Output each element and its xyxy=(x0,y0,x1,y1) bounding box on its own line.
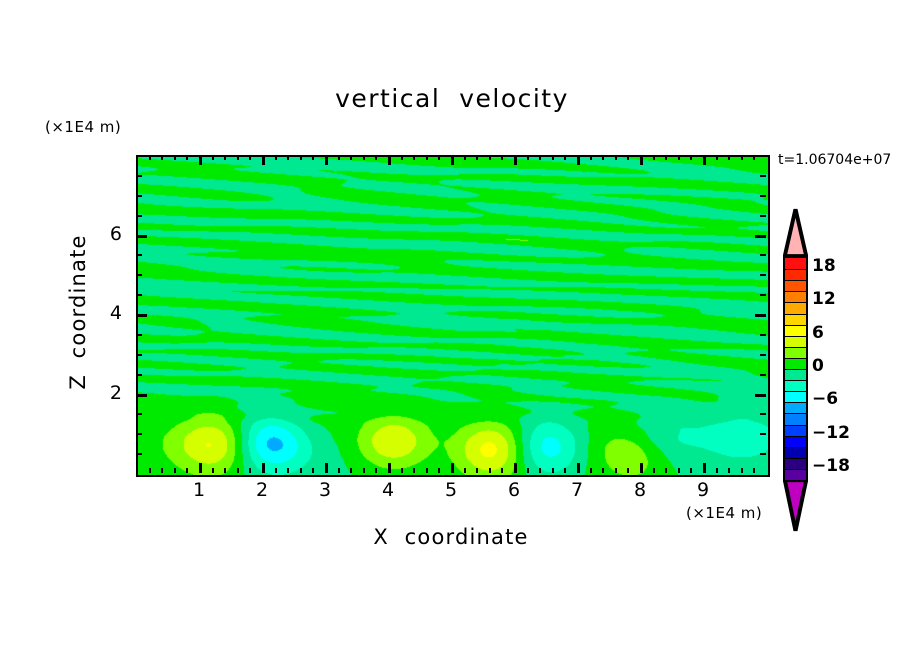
x-major-tick xyxy=(451,463,454,473)
x-minor-tick xyxy=(249,468,251,473)
x-tick-label: 1 xyxy=(179,479,219,501)
x-minor-tick-top xyxy=(338,155,340,160)
colorbar-band-divider xyxy=(785,413,806,414)
x-minor-tick xyxy=(690,468,692,473)
x-major-tick-top xyxy=(514,155,517,165)
colorbar-cap-bottom-icon xyxy=(783,480,808,532)
x-minor-tick-top xyxy=(438,155,440,160)
colorbar-band xyxy=(785,258,806,270)
y-minor-tick xyxy=(136,254,142,256)
colorbar-band xyxy=(785,291,806,303)
y-major-tick xyxy=(136,235,147,238)
x-minor-tick-top xyxy=(426,155,428,160)
y-tick-label: 4 xyxy=(96,302,122,324)
colorbar-band xyxy=(785,325,806,337)
y-minor-tick xyxy=(136,294,142,296)
x-minor-tick-top xyxy=(212,155,214,160)
x-minor-tick xyxy=(501,468,503,473)
x-minor-tick-top xyxy=(602,155,604,160)
x-minor-tick-top xyxy=(728,155,730,160)
x-minor-tick xyxy=(678,468,680,473)
colorbar-band-divider xyxy=(785,436,806,437)
x-major-tick-top xyxy=(388,155,391,165)
x-minor-tick xyxy=(653,468,655,473)
colorbar-band xyxy=(785,336,806,348)
y-axis-title: Z coordinate xyxy=(66,212,90,412)
x-minor-tick-top xyxy=(401,155,403,160)
colorbar-band-divider xyxy=(785,314,806,315)
x-minor-tick-top xyxy=(753,155,755,160)
y-minor-tick-right xyxy=(760,413,766,415)
x-minor-tick xyxy=(312,468,314,473)
x-minor-tick-top xyxy=(375,155,377,160)
x-minor-tick xyxy=(237,468,239,473)
contour-plot-figure: vertical velocity (×1E4 m) (×1E4 m) t=1.… xyxy=(0,0,904,654)
x-minor-tick-top xyxy=(741,155,743,160)
y-axis-unit-label: (×1E4 m) xyxy=(45,118,121,136)
x-minor-tick-top xyxy=(690,155,692,160)
x-minor-tick xyxy=(489,468,491,473)
y-minor-tick-right xyxy=(760,294,766,296)
colorbar-band-divider xyxy=(785,325,806,326)
colorbar-tick-label: −12 xyxy=(812,423,850,443)
x-minor-tick xyxy=(464,468,466,473)
x-minor-tick xyxy=(275,468,277,473)
x-tick-label: 6 xyxy=(494,479,534,501)
x-tick-label: 7 xyxy=(557,479,597,501)
y-major-tick xyxy=(136,314,147,317)
x-minor-tick-top xyxy=(275,155,277,160)
x-minor-tick xyxy=(375,468,377,473)
colorbar-band xyxy=(785,380,806,392)
colorbar-band xyxy=(785,347,806,359)
y-minor-tick-right xyxy=(760,195,766,197)
colorbar-band-divider xyxy=(785,347,806,348)
colorbar-tick-label: 12 xyxy=(812,289,836,309)
x-minor-tick-top xyxy=(489,155,491,160)
colorbar-band xyxy=(785,413,806,425)
y-minor-tick xyxy=(136,413,142,415)
colorbar-tick-label: −6 xyxy=(812,389,838,409)
x-major-tick xyxy=(388,463,391,473)
y-tick-label: 6 xyxy=(96,223,122,245)
y-minor-tick-right xyxy=(760,453,766,455)
colorbar-band xyxy=(785,302,806,314)
x-major-tick xyxy=(514,463,517,473)
x-minor-tick-top xyxy=(501,155,503,160)
x-minor-tick xyxy=(741,468,743,473)
colorbar-band-divider xyxy=(785,302,806,303)
colorbar-band xyxy=(785,447,806,459)
colorbar-band-divider xyxy=(785,458,806,459)
x-minor-tick xyxy=(363,468,365,473)
x-tick-label: 8 xyxy=(620,479,660,501)
y-major-tick-right xyxy=(755,314,766,317)
y-minor-tick xyxy=(136,334,142,336)
x-minor-tick xyxy=(426,468,428,473)
x-minor-tick xyxy=(602,468,604,473)
x-minor-tick-top xyxy=(539,155,541,160)
x-minor-tick xyxy=(224,468,226,473)
colorbar-band xyxy=(785,358,806,370)
colorbar-band-divider xyxy=(785,402,806,403)
colorbar-band xyxy=(785,369,806,381)
x-minor-tick xyxy=(438,468,440,473)
colorbar-tick-label: −18 xyxy=(812,456,850,476)
x-minor-tick-top xyxy=(615,155,617,160)
x-minor-tick-top xyxy=(224,155,226,160)
y-minor-tick xyxy=(136,195,142,197)
y-minor-tick xyxy=(136,175,142,177)
x-minor-tick-top xyxy=(249,155,251,160)
colorbar-tick-label: 0 xyxy=(812,356,824,376)
x-minor-tick-top xyxy=(476,155,478,160)
x-minor-tick xyxy=(716,468,718,473)
x-minor-tick-top xyxy=(464,155,466,160)
x-minor-tick-top xyxy=(716,155,718,160)
x-axis-title: X coordinate xyxy=(136,525,766,549)
x-major-tick xyxy=(577,463,580,473)
x-major-tick-top xyxy=(325,155,328,165)
colorbar-band xyxy=(785,314,806,326)
colorbar-band xyxy=(785,436,806,448)
x-tick-label: 9 xyxy=(683,479,723,501)
x-minor-tick-top xyxy=(287,155,289,160)
y-minor-tick-right xyxy=(760,274,766,276)
x-major-tick xyxy=(703,463,706,473)
colorbar-band-divider xyxy=(785,269,806,270)
x-tick-label: 4 xyxy=(368,479,408,501)
plot-area xyxy=(136,155,770,477)
x-major-tick xyxy=(199,463,202,473)
timestamp-label: t=1.06704e+07 xyxy=(778,152,891,168)
colorbar-band-divider xyxy=(785,291,806,292)
x-minor-tick xyxy=(527,468,529,473)
x-minor-tick xyxy=(615,468,617,473)
x-major-tick-top xyxy=(577,155,580,165)
x-tick-label: 3 xyxy=(305,479,345,501)
x-major-tick-top xyxy=(451,155,454,165)
x-minor-tick xyxy=(161,468,163,473)
x-minor-tick xyxy=(287,468,289,473)
x-minor-tick xyxy=(212,468,214,473)
y-minor-tick-right xyxy=(760,374,766,376)
colorbar-band-divider xyxy=(785,425,806,426)
y-minor-tick-right xyxy=(760,215,766,217)
x-major-tick-top xyxy=(262,155,265,165)
y-minor-tick-right xyxy=(760,175,766,177)
x-minor-tick xyxy=(627,468,629,473)
x-minor-tick-top xyxy=(527,155,529,160)
x-tick-label: 5 xyxy=(431,479,471,501)
x-minor-tick-top xyxy=(237,155,239,160)
x-minor-tick xyxy=(552,468,554,473)
x-minor-tick-top xyxy=(413,155,415,160)
y-minor-tick xyxy=(136,374,142,376)
x-minor-tick xyxy=(300,468,302,473)
colorbar-band-divider xyxy=(785,469,806,470)
x-minor-tick-top xyxy=(350,155,352,160)
x-minor-tick xyxy=(665,468,667,473)
colorbar-band xyxy=(785,402,806,414)
y-minor-tick xyxy=(136,274,142,276)
colorbar-band-divider xyxy=(785,336,806,337)
y-minor-tick-right xyxy=(760,433,766,435)
x-minor-tick-top xyxy=(627,155,629,160)
y-major-tick-right xyxy=(755,235,766,238)
colorbar-band xyxy=(785,469,806,481)
colorbar-bands xyxy=(783,256,808,482)
colorbar-cap-top-icon xyxy=(783,208,808,256)
y-major-tick-right xyxy=(755,394,766,397)
colorbar-band xyxy=(785,391,806,403)
y-minor-tick xyxy=(136,433,142,435)
x-minor-tick-top xyxy=(363,155,365,160)
x-minor-tick xyxy=(186,468,188,473)
x-minor-tick xyxy=(401,468,403,473)
x-minor-tick xyxy=(728,468,730,473)
x-minor-tick xyxy=(149,468,151,473)
x-minor-tick-top xyxy=(161,155,163,160)
x-minor-tick-top xyxy=(149,155,151,160)
x-minor-tick-top xyxy=(552,155,554,160)
colorbar-band-divider xyxy=(785,369,806,370)
y-major-tick xyxy=(136,394,147,397)
y-minor-tick-right xyxy=(760,334,766,336)
x-minor-tick-top xyxy=(653,155,655,160)
x-major-tick xyxy=(325,463,328,473)
colorbar-tick-label: 18 xyxy=(812,256,836,276)
x-minor-tick xyxy=(174,468,176,473)
y-tick-label: 2 xyxy=(96,382,122,404)
x-minor-tick xyxy=(413,468,415,473)
y-minor-tick-right xyxy=(760,354,766,356)
colorbar-band-divider xyxy=(785,391,806,392)
x-major-tick-top xyxy=(703,155,706,165)
colorbar-band-divider xyxy=(785,358,806,359)
y-minor-tick-right xyxy=(760,254,766,256)
x-axis-unit-label: (×1E4 m) xyxy=(686,504,762,522)
x-minor-tick xyxy=(476,468,478,473)
x-minor-tick-top xyxy=(665,155,667,160)
colorbar-band xyxy=(785,425,806,437)
x-minor-tick-top xyxy=(678,155,680,160)
x-minor-tick-top xyxy=(174,155,176,160)
x-major-tick-top xyxy=(199,155,202,165)
y-minor-tick xyxy=(136,215,142,217)
x-minor-tick-top xyxy=(312,155,314,160)
x-minor-tick xyxy=(564,468,566,473)
x-minor-tick xyxy=(350,468,352,473)
x-minor-tick xyxy=(753,468,755,473)
chart-title: vertical velocity xyxy=(0,84,904,113)
contour-field-canvas xyxy=(138,157,768,475)
colorbar-tick-label: 6 xyxy=(812,323,824,343)
x-minor-tick-top xyxy=(186,155,188,160)
colorbar: 181260−6−12−18 xyxy=(778,208,898,513)
x-minor-tick-top xyxy=(564,155,566,160)
colorbar-band-divider xyxy=(785,280,806,281)
colorbar-band xyxy=(785,458,806,470)
colorbar-band-divider xyxy=(785,380,806,381)
colorbar-band xyxy=(785,269,806,281)
x-tick-label: 2 xyxy=(242,479,282,501)
x-minor-tick xyxy=(539,468,541,473)
x-minor-tick-top xyxy=(300,155,302,160)
y-minor-tick xyxy=(136,354,142,356)
x-minor-tick xyxy=(338,468,340,473)
y-minor-tick xyxy=(136,453,142,455)
x-major-tick xyxy=(640,463,643,473)
x-minor-tick xyxy=(590,468,592,473)
x-minor-tick-top xyxy=(590,155,592,160)
x-major-tick-top xyxy=(640,155,643,165)
colorbar-band xyxy=(785,280,806,292)
x-major-tick xyxy=(262,463,265,473)
colorbar-band-divider xyxy=(785,447,806,448)
